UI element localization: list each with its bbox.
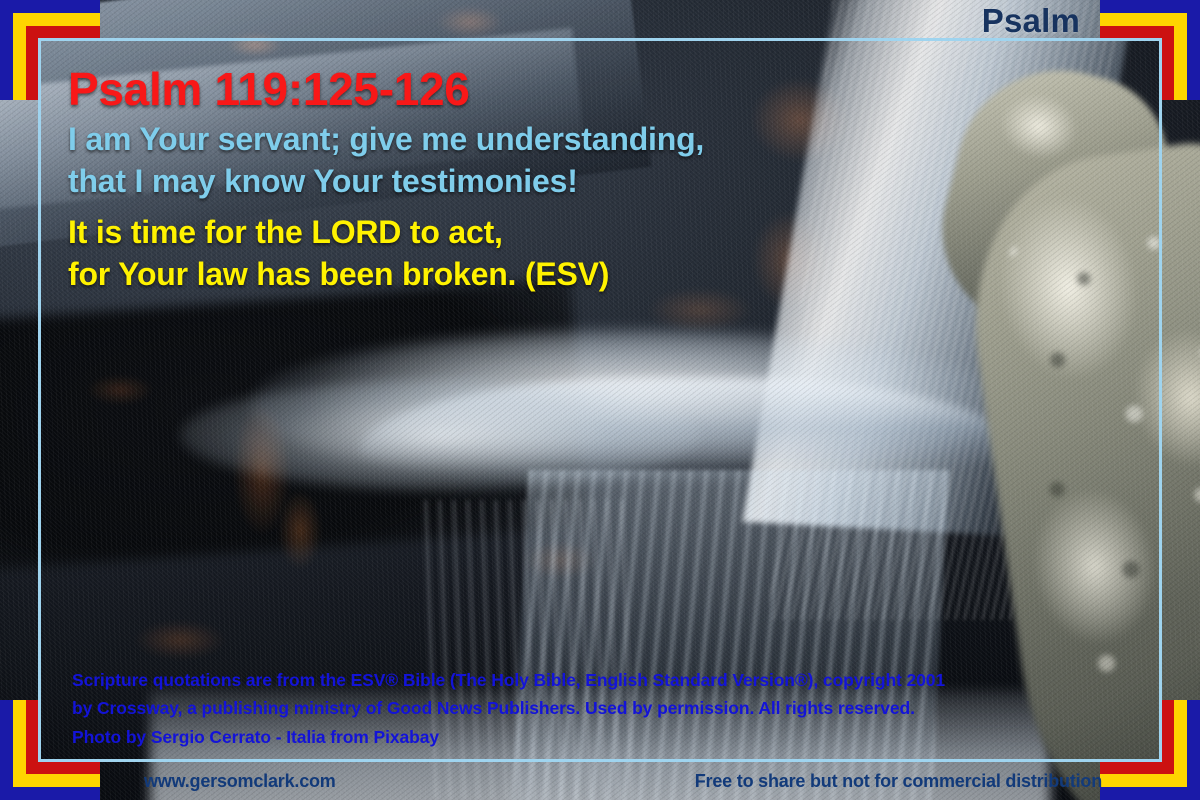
credit-line-esv-2: by Crossway, a publishing ministry of Go… bbox=[72, 694, 1082, 722]
verse-line-2: that I may know Your testimonies! bbox=[68, 161, 928, 203]
verse-line-gap bbox=[68, 202, 928, 212]
corner-red-bar-v bbox=[1161, 700, 1174, 774]
verse-line-4: for Your law has been broken. (ESV) bbox=[68, 254, 928, 296]
corner-blue-bar-v bbox=[1187, 700, 1200, 800]
credit-line-photo: Photo by Sergio Cerrato - Italia from Pi… bbox=[72, 723, 1082, 751]
corner-yellow-bar-v bbox=[1174, 700, 1187, 787]
scripture-image-card: Psalm Psalm 119:125-126 I am Your servan… bbox=[0, 0, 1200, 800]
website-link[interactable]: www.gersomclark.com bbox=[144, 771, 336, 792]
corner-blue-bar-h bbox=[0, 0, 100, 13]
corner-red-bar-v bbox=[1161, 26, 1174, 100]
verse-line-3: It is time for the LORD to act, bbox=[68, 212, 928, 254]
corner-blue-bar-v bbox=[1187, 0, 1200, 100]
footer-bar: www.gersomclark.com Free to share but no… bbox=[72, 771, 1128, 792]
corner-red-bar-v bbox=[26, 26, 39, 100]
corner-blue-bar-v bbox=[0, 700, 13, 800]
corner-yellow-bar-v bbox=[13, 13, 26, 100]
corner-blue-bar-h bbox=[1100, 0, 1200, 13]
corner-yellow-bar-h bbox=[13, 13, 100, 26]
copyright-credits: Scripture quotations are from the ESV® B… bbox=[72, 666, 1082, 751]
corner-yellow-bar-v bbox=[13, 700, 26, 787]
verse-block: Psalm 119:125-126 I am Your servant; giv… bbox=[68, 66, 928, 295]
verse-line-1: I am Your servant; give me understanding… bbox=[68, 119, 928, 161]
book-label: Psalm bbox=[982, 2, 1080, 40]
corner-ornament-top-right bbox=[1100, 0, 1200, 100]
credit-line-esv-1: Scripture quotations are from the ESV® B… bbox=[72, 666, 1082, 694]
corner-red-bar-v bbox=[26, 700, 39, 774]
corner-yellow-bar-v bbox=[1174, 13, 1187, 100]
verse-reference: Psalm 119:125-126 bbox=[68, 66, 928, 113]
usage-note-text: Free to share but not for commercial dis… bbox=[695, 771, 1102, 792]
corner-blue-bar-v bbox=[0, 0, 13, 100]
